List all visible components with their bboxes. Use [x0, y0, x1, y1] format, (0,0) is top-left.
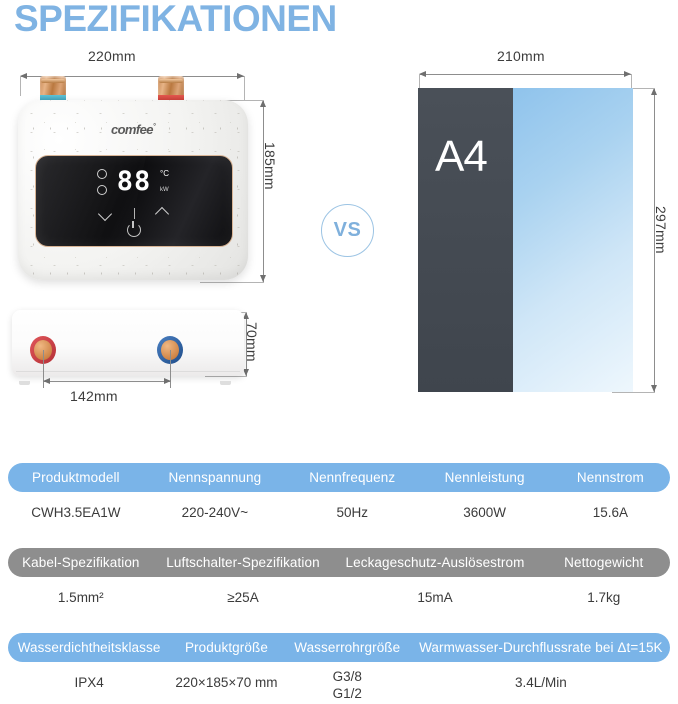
spec-table-protection: Kabel-SpezifikationLuftschalter-Spezifik… — [8, 548, 670, 619]
vs-badge: VS — [321, 204, 374, 257]
table-cell: 1.5mm² — [8, 577, 154, 607]
table-cell: 15.6A — [551, 492, 670, 522]
column-header: Wasserdichtheitsklasse — [8, 640, 170, 655]
a4-label: A4 — [435, 132, 487, 182]
dimension-label-height: 185mm — [262, 142, 278, 190]
chevron-down-icon[interactable] — [98, 209, 114, 218]
heater-front-view: comfee° 88 °C kW — [18, 100, 248, 280]
dimension-line-port-spacing — [43, 381, 171, 382]
column-header: Nennleistung — [418, 470, 550, 485]
column-header: Wasserrohrgröße — [283, 640, 412, 655]
column-header: Warmwasser-Durchflussrate bei Δt=15K — [412, 640, 670, 655]
heater-body: comfee° 88 °C kW — [18, 100, 248, 280]
spec-table-header: ProduktmodellNennspannungNennfrequenzNen… — [8, 463, 670, 492]
dimension-arrow-up — [260, 100, 266, 107]
brand-superscript: ° — [153, 124, 155, 131]
column-header: Luftschalter-Spezifikation — [154, 555, 333, 570]
table-cell: 3600W — [418, 492, 550, 522]
a4-dimension-line-height — [654, 88, 655, 392]
table-cell: 1.7kg — [538, 577, 670, 607]
a4-tick-left — [419, 74, 420, 88]
table-cell: 15mA — [332, 577, 537, 607]
heater-bottom-view — [12, 310, 244, 382]
a4-tick-bottom — [612, 392, 655, 393]
table-row: 1.5mm²≥25A15mA1.7kg — [8, 577, 670, 619]
dimension-arrow-left — [20, 73, 27, 79]
spec-table-dimensions: WasserdichtheitsklasseProduktgrößeWasser… — [8, 633, 670, 704]
a4-dark-panel: A4 — [418, 88, 513, 392]
table-cell: CWH3.5EA1W — [8, 492, 144, 522]
a4-dimension-label-width: 210mm — [497, 48, 545, 64]
table-cell: 220-240V~ — [144, 492, 286, 522]
control-display-panel[interactable]: 88 °C kW — [35, 155, 233, 247]
table-cell: 50Hz — [286, 492, 418, 522]
display-unit-celsius: °C — [160, 169, 169, 178]
mounting-foot-left — [19, 381, 30, 385]
dimension-line-height — [263, 100, 264, 282]
a4-dimension-arrow-up — [651, 88, 657, 95]
column-header: Kabel-Spezifikation — [8, 555, 154, 570]
dimension-label-width: 220mm — [88, 48, 136, 64]
brand-name: comfee — [111, 122, 153, 137]
column-header: Nennstrom — [551, 470, 670, 485]
spec-table-header: WasserdichtheitsklasseProduktgrößeWasser… — [8, 633, 670, 662]
spec-table-header: Kabel-SpezifikationLuftschalter-Spezifik… — [8, 548, 670, 577]
table-cell: ≥25A — [154, 577, 333, 607]
dimension-label-port-spacing: 142mm — [70, 388, 118, 404]
display-control-row — [36, 208, 232, 219]
a4-dimension-arrow-right — [624, 71, 631, 77]
column-header: Nennspannung — [144, 470, 286, 485]
table-cell: G3/8G1/2 — [283, 662, 412, 703]
a4-dimension-arrow-left — [419, 71, 426, 77]
column-header: Nennfrequenz — [286, 470, 418, 485]
dimension-line-depth — [246, 312, 247, 376]
brand-logo: comfee° — [18, 122, 248, 137]
a4-dimension-label-height: 297mm — [653, 206, 669, 254]
column-header: Produktmodell — [8, 470, 144, 485]
mounting-foot-right — [220, 381, 231, 385]
column-header: Nettogewicht — [538, 555, 670, 570]
table-cell: 220×185×70 mm — [170, 662, 283, 692]
column-header: Leckageschutz-Auslösestrom — [332, 555, 537, 570]
table-row: CWH3.5EA1W220-240V~50Hz3600W15.6A — [8, 492, 670, 534]
dimension-tick-left — [20, 76, 21, 96]
dimension-arrow-spacing-right — [164, 378, 171, 384]
table-cell: 3.4L/Min — [412, 662, 670, 692]
a4-dimension-line-width — [419, 74, 631, 75]
table-cell: IPX4 — [8, 662, 170, 692]
control-divider — [134, 208, 135, 219]
dimension-tick-right — [244, 76, 245, 100]
table-row: IPX4220×185×70 mmG3/8G1/23.4L/Min — [8, 662, 670, 704]
dimension-arrow-down — [260, 275, 266, 282]
dimension-arrow-spacing-left — [43, 378, 50, 384]
display-unit-kilowatt: kW — [160, 187, 169, 193]
spec-table-electrical: ProduktmodellNennspannungNennfrequenzNen… — [8, 463, 670, 534]
a4-gradient-panel — [513, 88, 633, 392]
dimension-arrow-right — [237, 73, 244, 79]
dimension-tick-bottom — [200, 282, 264, 283]
page-title: SPEZIFIKATIONEN — [14, 0, 337, 40]
a4-paper-sheet: A4 — [418, 88, 633, 392]
power-icon[interactable] — [127, 223, 141, 237]
a4-dimension-arrow-down — [651, 385, 657, 392]
chevron-up-icon[interactable] — [155, 209, 171, 218]
column-header: Produktgröße — [170, 640, 283, 655]
display-digits: 88 — [36, 168, 232, 195]
